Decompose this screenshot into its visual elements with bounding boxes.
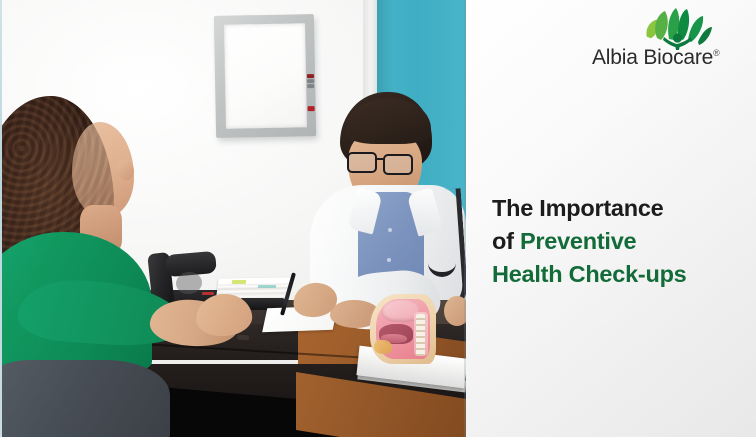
headline-line-3: Health Check-ups [492, 258, 742, 291]
glasses-lens-right [383, 154, 413, 175]
registered-trademark-icon: ® [713, 48, 719, 58]
lightbox-screen [224, 23, 307, 129]
headline-line-3-accent: Health Check-ups [492, 261, 687, 287]
headline-line-1-text: The Importance [492, 195, 663, 221]
desk-cable-grommet [237, 335, 249, 341]
lightbox-buttons [307, 74, 314, 88]
stethoscope-tube-inner [428, 186, 456, 277]
glasses-lens-left [347, 152, 377, 173]
patient-gray-trousers [0, 360, 170, 437]
lightbox-button-red [307, 74, 314, 78]
headline-line-2: of Preventive [492, 225, 742, 258]
promotional-banner: Albia Biocare® The Importance of Prevent… [0, 0, 756, 437]
lightbox-button-red-lower [308, 106, 315, 111]
doctor-hand-far [444, 296, 466, 326]
shirt-button-2 [387, 258, 391, 262]
brand-logo[interactable]: Albia Biocare® [592, 8, 744, 74]
paper-highlight-teal [258, 285, 276, 288]
desk-phone-red-indicator [202, 292, 214, 295]
brand-name-text: Albia Biocare [592, 46, 713, 69]
shirt-button-1 [388, 228, 392, 232]
headline-line-1: The Importance [492, 192, 742, 225]
paper-highlight-yellow [232, 280, 247, 284]
xray-lightbox [214, 14, 316, 138]
page-title: The Importance of Preventive Health Chec… [492, 192, 742, 291]
lightbox-button-gray-2 [307, 84, 314, 88]
content-panel: Albia Biocare® The Importance of Prevent… [466, 0, 756, 437]
leaf-person-logo-icon [644, 8, 712, 50]
model-nasal-passage [374, 340, 392, 354]
patient-nose [118, 160, 134, 180]
model-spine [416, 314, 425, 356]
lightbox-button-gray-1 [307, 79, 314, 83]
glasses-bridge [376, 158, 384, 160]
headline-line-2-accent: Preventive [520, 228, 636, 254]
photo-left-border [0, 0, 2, 437]
doctor-glasses [347, 152, 427, 174]
brand-name: Albia Biocare® [592, 46, 744, 70]
anatomical-head-model [370, 294, 442, 366]
photo-right-border [464, 0, 466, 437]
headline-line-2-prefix: of [492, 228, 520, 254]
lightbox-frame [214, 14, 316, 138]
clinic-consultation-photo [0, 0, 466, 437]
